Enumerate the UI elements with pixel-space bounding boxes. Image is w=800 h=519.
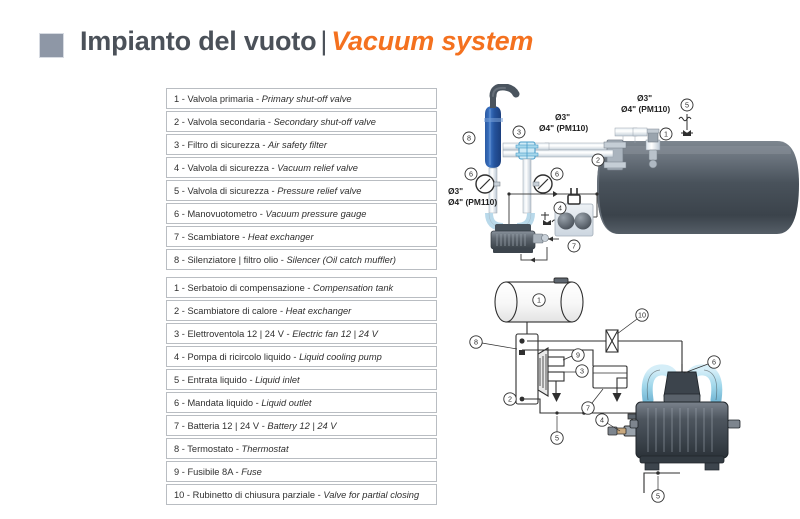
callout-1: 1 (533, 294, 545, 306)
legend-label-italian: Serbatoio di compensazione (187, 283, 304, 293)
legend-label-italian: Elettroventola 12 | 24 V (187, 329, 283, 339)
page-title-separator: | (316, 26, 331, 56)
legend-label-italian: Silenziatore | filtro olio (187, 255, 278, 265)
legend-label-english: Electric fan 12 | 24 V (292, 329, 378, 339)
legend-number: 3 - (174, 329, 187, 339)
legend-vacuum-row-7: 7 - Scambiatore - Heat exchanger (166, 226, 437, 247)
callout-9: 9 (563, 349, 584, 361)
svg-text:1: 1 (664, 130, 668, 139)
legend-label-english: Primary shut-off valve (262, 94, 352, 104)
legend-vacuum-row-4: 4 - Valvola di sicurezza - Vacuum relief… (166, 157, 437, 178)
heat-exchanger-manifold (516, 322, 538, 404)
legend-label-italian: Fusibile 8A (187, 467, 232, 477)
legend-cooling-row-6: 6 - Mandata liquido - Liquid outlet (166, 392, 437, 413)
legend-number: 7 - (174, 232, 187, 242)
legend-cooling-row-7: 7 - Batteria 12 | 24 V - Battery 12 | 24… (166, 415, 437, 436)
svg-text:5: 5 (685, 101, 689, 110)
svg-text:4: 4 (558, 204, 562, 213)
filter-downpipe (517, 159, 531, 227)
svg-text:Ø4" (PM110): Ø4" (PM110) (448, 197, 497, 207)
svg-text:2: 2 (596, 156, 600, 165)
legend-number: 5 - (174, 186, 187, 196)
legend-cooling-row-10: 10 - Rubinetto di chiusura parziale - Va… (166, 484, 437, 505)
legend-separator: - (260, 140, 268, 150)
legend-number: 4 - (174, 352, 187, 362)
svg-text:3: 3 (517, 128, 521, 137)
callout-2: 2 (592, 154, 604, 166)
legend-number: 6 - (174, 398, 187, 408)
callout-10: 10 (617, 309, 648, 334)
callout-7: 7 (568, 240, 580, 252)
callout-5-bottom: 5 (652, 476, 664, 502)
legend-label-english: Fuse (241, 467, 262, 477)
legend-vacuum-row-1: 1 - Valvola primaria - Primary shut-off … (166, 88, 437, 109)
vacuum-pump (491, 224, 549, 253)
svg-text:10: 10 (638, 311, 646, 320)
legend-label-italian: Pompa di ricircolo liquido (187, 352, 290, 362)
svg-text:6: 6 (555, 170, 559, 179)
legend-label-italian: Scambiatore (187, 232, 239, 242)
legend-cooling-row-5: 5 - Entrata liquido - Liquid inlet (166, 369, 437, 390)
svg-text:3: 3 (580, 367, 584, 376)
svg-text:8: 8 (474, 338, 478, 347)
legend-label-italian: Entrata liquido (187, 375, 246, 385)
pipe-label-middle: Ø3" Ø4" (PM110) (539, 112, 588, 133)
legend-label-english: Battery 12 | 24 V (267, 421, 336, 431)
legend-label-italian: Valvola secondaria (187, 117, 265, 127)
vacuum-tank (597, 141, 799, 234)
svg-text:7: 7 (572, 242, 576, 251)
legend-cooling-row-4: 4 - Pompa di ricircolo liquido - Liquid … (166, 346, 437, 367)
svg-text:9: 9 (576, 351, 580, 360)
legend-cooling-row-2: 2 - Scambiatore di calore - Heat exchang… (166, 300, 437, 321)
legend-label-italian: Manovuotometro (187, 209, 257, 219)
legend-label-english: Vacuum relief valve (277, 163, 358, 173)
legend-vacuum-row-6: 6 - Manovuotometro - Vacuum pressure gau… (166, 203, 437, 224)
legend-separator: - (233, 444, 241, 454)
air-safety-filter (516, 142, 538, 159)
legend-label-italian: Batteria 12 | 24 V (187, 421, 259, 431)
svg-text:Ø4" (PM110): Ø4" (PM110) (539, 123, 588, 133)
legend-separator: - (253, 94, 261, 104)
legend-number: 1 - (174, 283, 187, 293)
legend-label-english: Vacuum pressure gauge (265, 209, 366, 219)
callout-6-left: 6 (465, 168, 477, 180)
svg-text:6: 6 (712, 358, 716, 367)
legend-separator: - (233, 467, 241, 477)
callout-5: 5 (681, 99, 693, 111)
legend-number: 10 - (174, 490, 193, 500)
legend-label-english: Secondary shut-off valve (274, 117, 376, 127)
legend-label-english: Liquid inlet (255, 375, 299, 385)
callout-8: 8 (470, 336, 517, 349)
legend-label-italian: Valvola di sicurezza (187, 163, 268, 173)
thermostat-marker (519, 338, 524, 343)
legend-number: 8 - (174, 444, 187, 454)
legend-label-english: Liquid outlet (261, 398, 311, 408)
svg-text:Ø4" (PM110): Ø4" (PM110) (621, 104, 670, 114)
page-title-english: Vacuum system (331, 26, 533, 56)
legend-separator: - (277, 306, 285, 316)
vacuum-system-diagram: 8 6 3 6 4 7 2 1 5 Ø3" Ø4" (PM110) Ø3" Ø4… (447, 84, 800, 264)
legend-number: 1 - (174, 94, 187, 104)
svg-text:5: 5 (656, 492, 660, 501)
legend-label-english: Thermostat (242, 444, 289, 454)
legend-label-italian: Filtro di sicurezza (187, 140, 259, 150)
legend-separator: - (284, 329, 292, 339)
legend-label-english: Air safety filter (268, 140, 327, 150)
page-title-italian: Impianto del vuoto (80, 26, 316, 56)
callout-4: 4 (554, 202, 566, 214)
legend-number: 9 - (174, 467, 187, 477)
legend-label-italian: Scambiatore di calore (187, 306, 277, 316)
legend-vacuum-row-3: 3 - Filtro di sicurezza - Air safety fil… (166, 134, 437, 155)
callout-8: 8 (463, 132, 475, 144)
svg-text:2: 2 (508, 395, 512, 404)
legend-separator: - (269, 186, 277, 196)
legend-vacuum-row-2: 2 - Valvola secondaria - Secondary shut-… (166, 111, 437, 132)
legend-label-english: Valve for partial closing (323, 490, 419, 500)
legend-separator: - (247, 375, 255, 385)
page-title: Impianto del vuoto|Vacuum system (80, 26, 533, 57)
legend-vacuum-row-5: 5 - Valvola di sicurezza - Pressure reli… (166, 180, 437, 201)
header-accent-square (39, 33, 64, 58)
legend-cooling-row-3: 3 - Elettroventola 12 | 24 V - Electric … (166, 323, 437, 344)
legend-separator: - (291, 352, 299, 362)
cooling-circuit-diagram: 1 8 9 3 2 7 10 6 4 5 (462, 268, 800, 513)
pipe-label-right: Ø3" Ø4" (PM110) (621, 93, 670, 114)
callout-6-right: 6 (551, 168, 563, 180)
pressure-relief-valve (679, 114, 693, 136)
svg-text:1: 1 (537, 296, 541, 305)
callout-7: 7 (582, 389, 603, 414)
legend-number: 8 - (174, 255, 187, 265)
legend-number: 5 - (174, 375, 187, 385)
legend-cooling-row-8: 8 - Termostato - Thermostat (166, 438, 437, 459)
legend-separator: - (240, 232, 248, 242)
svg-text:Ø3": Ø3" (555, 112, 570, 122)
callout-2: 2 (504, 393, 516, 405)
svg-text:Ø3": Ø3" (448, 186, 463, 196)
legend-label-italian: Rubinetto di chiusura parziale (193, 490, 315, 500)
legend-number: 6 - (174, 209, 187, 219)
legend-number: 3 - (174, 140, 187, 150)
partial-closing-valve (606, 330, 618, 352)
legend-label-italian: Valvola di sicurezza (187, 186, 268, 196)
legend-vacuum-system: 1 - Valvola primaria - Primary shut-off … (166, 88, 437, 272)
legend-vacuum-row-8: 8 - Silenziatore | filtro olio - Silence… (166, 249, 437, 270)
legend-label-english: Pressure relief valve (277, 186, 361, 196)
svg-text:6: 6 (469, 170, 473, 179)
legend-cooling-circuit: 1 - Serbatoio di compensazione - Compens… (166, 277, 437, 507)
legend-number: 7 - (174, 421, 187, 431)
svg-text:8: 8 (467, 134, 471, 143)
legend-label-english: Heat exchanger (286, 306, 352, 316)
legend-number: 2 - (174, 306, 187, 316)
legend-label-italian: Valvola primaria (187, 94, 253, 104)
battery (593, 366, 627, 388)
legend-label-english: Compensation tank (313, 283, 393, 293)
legend-separator: - (269, 163, 277, 173)
legend-label-italian: Mandata liquido (187, 398, 253, 408)
callout-3: 3 (513, 126, 525, 138)
legend-number: 4 - (174, 163, 187, 173)
callout-5-left: 5 (551, 416, 563, 444)
legend-label-english: Heat exchanger (248, 232, 314, 242)
legend-label-english: Silencer (Oil catch muffler) (286, 255, 396, 265)
legend-number: 2 - (174, 117, 187, 127)
vacuum-pressure-gauge-right (533, 175, 552, 193)
legend-label-english: Liquid cooling pump (299, 352, 382, 362)
legend-label-italian: Termostato (187, 444, 233, 454)
legend-cooling-row-1: 1 - Serbatoio di compensazione - Compens… (166, 277, 437, 298)
legend-cooling-row-9: 9 - Fusibile 8A - Fuse (166, 461, 437, 482)
svg-text:4: 4 (600, 416, 604, 425)
page-header: Impianto del vuoto|Vacuum system (0, 0, 800, 80)
svg-text:5: 5 (555, 434, 559, 443)
svg-text:7: 7 (586, 404, 590, 413)
legend-separator: - (265, 117, 273, 127)
callout-1: 1 (660, 128, 672, 140)
vacuum-pump-assembly (630, 364, 740, 470)
legend-separator: - (305, 283, 313, 293)
svg-text:Ø3": Ø3" (637, 93, 652, 103)
